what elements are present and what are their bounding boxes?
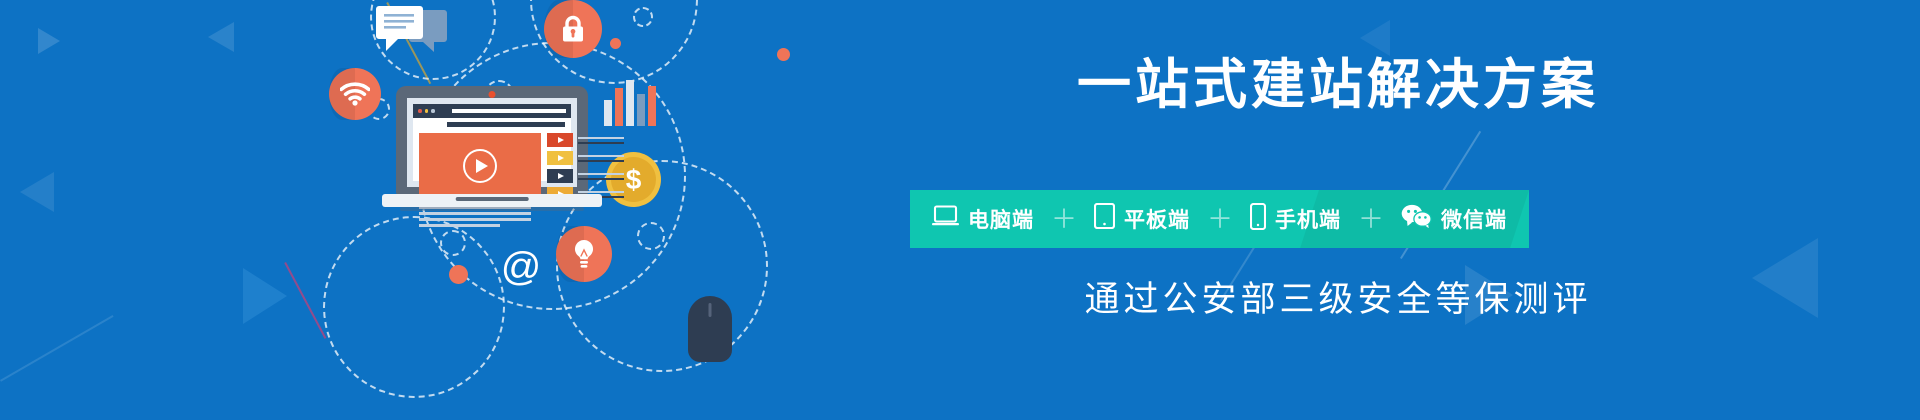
phone-icon (1250, 203, 1266, 236)
platform-label-desktop: 电脑端 (968, 204, 1034, 234)
plus-separator: ＋ (1051, 206, 1077, 232)
chat-bubble-icon (376, 6, 448, 62)
laptop-base (382, 194, 602, 207)
dot-coral-2 (449, 265, 468, 284)
banner-copy: 一站式建站解决方案 电脑端 ＋ 平 (748, 0, 1920, 420)
thumbnail-navy (547, 169, 573, 183)
chrome-dot-grey (431, 109, 435, 113)
dashed-circle-small-4 (637, 222, 665, 250)
dashed-circle-small-3 (633, 7, 653, 27)
mouse-icon (688, 296, 732, 362)
browser-address-bar (452, 109, 567, 113)
promo-banner: $ @ (0, 0, 1920, 420)
wifi-icon (329, 68, 381, 120)
thumbnail-row (547, 169, 624, 183)
triangle-decor-3 (20, 172, 54, 212)
tablet-icon (1094, 203, 1115, 235)
thumbnail-red (547, 133, 573, 147)
dot-coral-1 (610, 38, 621, 49)
laptop-base-shadow (400, 207, 584, 211)
browser-chrome (413, 104, 571, 118)
platform-item-desktop: 电脑端 (932, 204, 1034, 234)
platform-item-tablet: 平板端 (1094, 203, 1190, 235)
dashed-circle-small-2 (440, 230, 466, 256)
accent-line-magenta (284, 262, 326, 339)
website-mockup (413, 104, 571, 181)
thumbnail-row (547, 133, 624, 147)
supported-platforms-badge: 电脑端 ＋ 平板端 ＋ (910, 190, 1529, 248)
lightbulb-icon (556, 226, 612, 282)
chrome-dot-yellow (425, 109, 429, 113)
accent-line-gold (386, 2, 431, 84)
lock-icon (544, 0, 602, 58)
dashed-arc-top (370, 0, 496, 80)
platform-item-wechat: 微信端 (1401, 204, 1507, 234)
wechat-icon (1401, 204, 1432, 234)
thumbnail-text-lines (578, 173, 624, 180)
accent-line-white-3 (0, 315, 114, 382)
plus-separator: ＋ (1207, 206, 1233, 232)
thumbnail-row (547, 151, 624, 165)
plus-separator: ＋ (1358, 206, 1384, 232)
platform-label-phone: 手机端 (1275, 204, 1341, 234)
play-button-icon (463, 149, 497, 183)
hero-video-thumbnail (419, 133, 541, 199)
thumbnail-text-lines (578, 155, 624, 162)
platform-label-tablet: 平板端 (1124, 204, 1190, 234)
laptop-screen (407, 98, 577, 187)
laptop-camera-dot (489, 91, 496, 98)
triangle-decor-2 (208, 22, 234, 52)
page-subtitle: 通过公安部三级安全等保测评 (798, 282, 1878, 317)
laptop-lid (396, 86, 588, 196)
thumbnail-text-lines (578, 137, 624, 144)
platform-item-phone: 手机端 (1250, 203, 1341, 236)
laptop-icon (932, 205, 959, 233)
laptop-illustration (382, 86, 602, 212)
page-title: 一站式建站解决方案 (798, 58, 1878, 112)
thumbnail-yellow (547, 151, 573, 165)
triangle-decor-1 (38, 28, 60, 54)
at-sign-icon: @ (498, 244, 544, 290)
triangle-decor-4 (243, 268, 287, 324)
platform-label-wechat: 微信端 (1441, 204, 1507, 234)
chrome-dot-red (418, 109, 422, 113)
bar-chart-icon (604, 78, 664, 126)
dashed-arc-lower-left (323, 216, 505, 398)
mockup-content (413, 127, 571, 201)
thumbnail-list (547, 133, 624, 201)
